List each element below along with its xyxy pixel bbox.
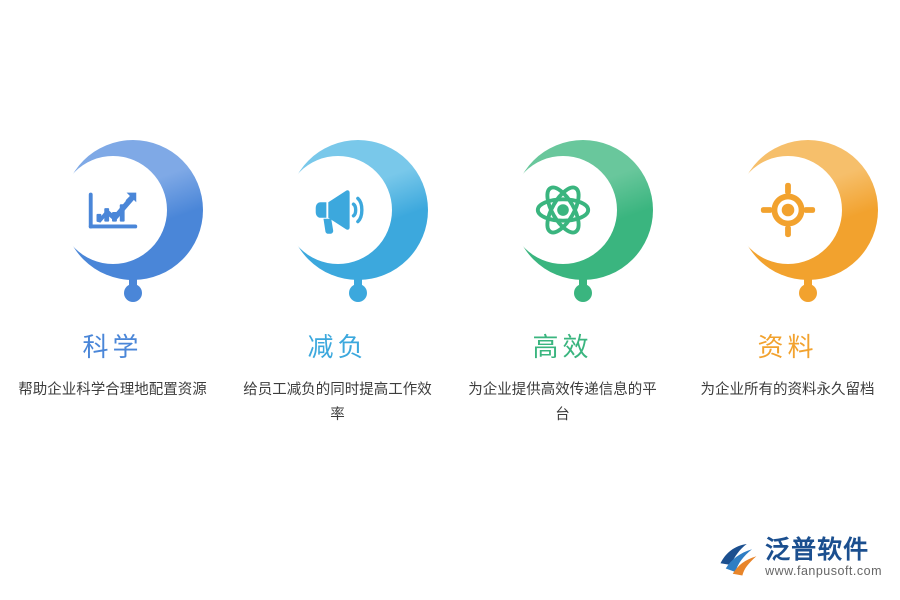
logo-url: www.fanpusoft.com	[765, 564, 882, 579]
feature-item: 科学 帮助企业科学合理地配置资源	[0, 140, 225, 403]
chart-growth-icon	[82, 179, 144, 241]
feature-desc: 为企业所有的资料永久留档	[688, 378, 888, 403]
fanpu-logo-icon	[717, 537, 759, 579]
badge-inner	[59, 156, 167, 264]
badge-dot	[574, 284, 592, 302]
feature-list: 科学 帮助企业科学合理地配置资源 减负 给员工减负的同时提高工	[0, 140, 900, 428]
brand-logo: 泛普软件 www.fanpusoft.com	[717, 534, 882, 582]
feature-badge	[718, 140, 858, 305]
badge-inner	[284, 156, 392, 264]
target-icon	[757, 179, 819, 241]
feature-item: 减负 给员工减负的同时提高工作效率	[225, 140, 450, 428]
feature-item: 资料 为企业所有的资料永久留档	[675, 140, 900, 403]
badge-inner	[509, 156, 617, 264]
atom-icon	[532, 179, 594, 241]
logo-name: 泛普软件	[765, 537, 882, 564]
feature-title: 减负	[307, 327, 367, 364]
badge-dot	[349, 284, 367, 302]
feature-badge	[493, 140, 633, 305]
feature-desc: 给员工减负的同时提高工作效率	[238, 378, 438, 428]
badge-dot	[124, 284, 142, 302]
feature-title: 资料	[757, 327, 817, 364]
feature-badge	[43, 140, 183, 305]
megaphone-icon	[307, 179, 369, 241]
feature-item: 高效 为企业提供高效传递信息的平台	[450, 140, 675, 428]
badge-inner	[734, 156, 842, 264]
feature-title: 科学	[82, 327, 142, 364]
feature-desc: 帮助企业科学合理地配置资源	[13, 378, 213, 403]
badge-dot	[799, 284, 817, 302]
feature-desc: 为企业提供高效传递信息的平台	[463, 378, 663, 428]
feature-title: 高效	[532, 327, 592, 364]
logo-text: 泛普软件 www.fanpusoft.com	[765, 537, 882, 579]
feature-badge	[268, 140, 408, 305]
